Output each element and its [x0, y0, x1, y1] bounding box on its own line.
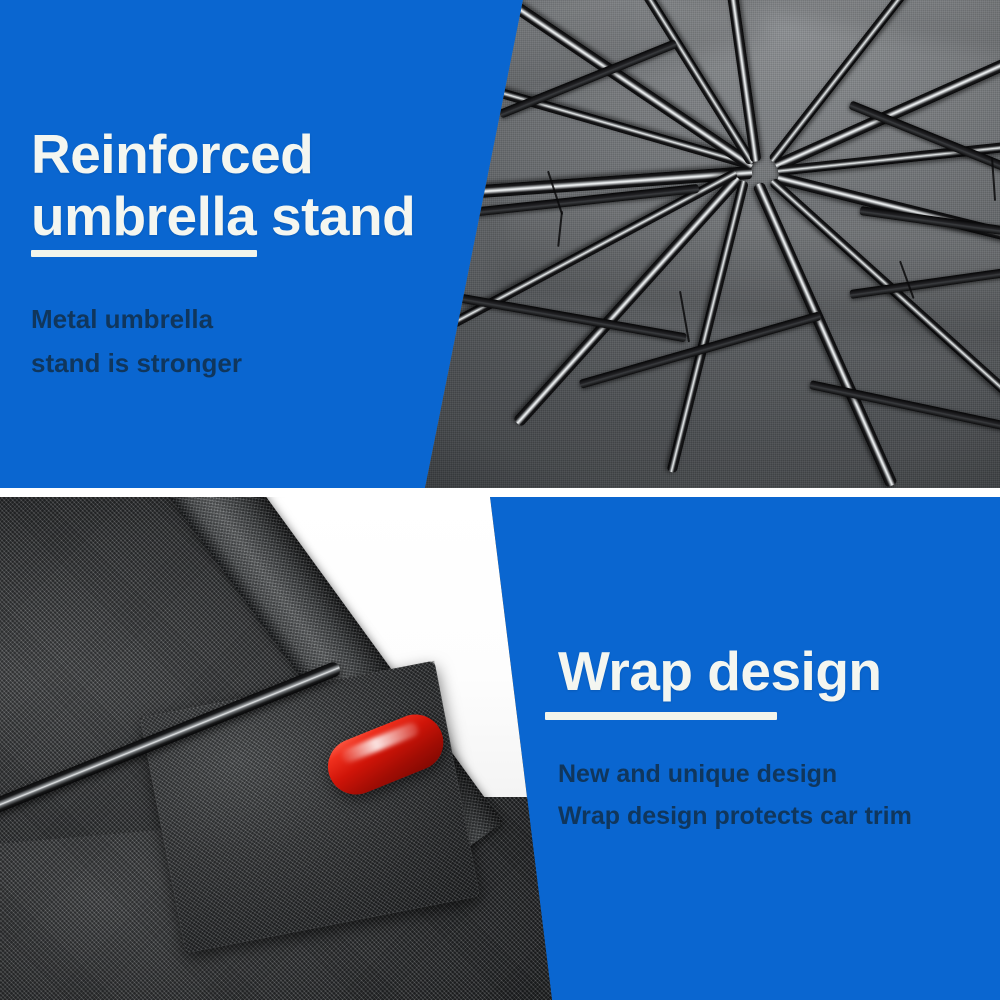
body-copy-reinforced-umbrella-stand: Metal umbrella stand is stronger: [31, 297, 242, 385]
product-feature-image: Reinforced umbrella stand Metal umbrella…: [0, 0, 1000, 1000]
umbrella-canopy: [380, 0, 1000, 488]
body-copy-wrap-design: New and unique design Wrap design protec…: [558, 753, 912, 837]
panel-reinforced-umbrella-stand: Reinforced umbrella stand Metal umbrella…: [0, 0, 1000, 488]
headline-wrap-design: Wrap design: [558, 640, 882, 702]
headline-reinforced-umbrella-stand: Reinforced umbrella stand: [31, 123, 415, 247]
panel-divider: [0, 488, 1000, 497]
wrap-fabric-photo: [0, 497, 1000, 1000]
headline-underline: [545, 712, 777, 720]
headline-underline: [31, 250, 257, 257]
panel-wrap-design: [0, 497, 1000, 1000]
